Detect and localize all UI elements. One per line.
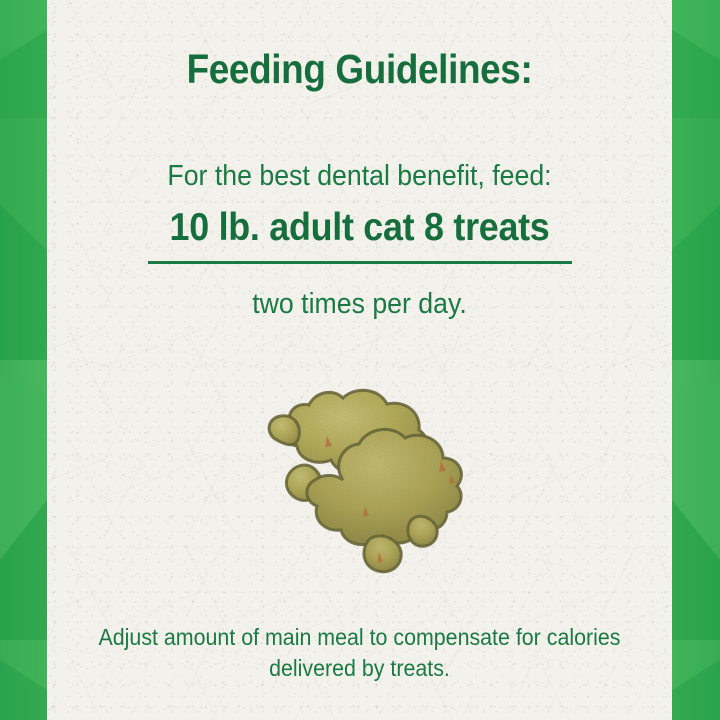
cat-treat-illustration	[255, 374, 485, 584]
footnote-text: Adjust amount of main meal to compensate…	[69, 622, 650, 684]
dosage-text: 10 lb. adult cat 8 treats	[72, 206, 647, 250]
divider-rule	[148, 261, 572, 264]
feeding-lead-text: For the best dental benefit, feed:	[72, 160, 647, 193]
panel-content: Feeding Guidelines: For the best dental …	[0, 0, 720, 720]
page-title: Feeding Guidelines:	[78, 46, 641, 93]
feeding-guidelines-panel: Feeding Guidelines: For the best dental …	[0, 0, 720, 720]
frequency-text: two times per day.	[72, 288, 647, 321]
